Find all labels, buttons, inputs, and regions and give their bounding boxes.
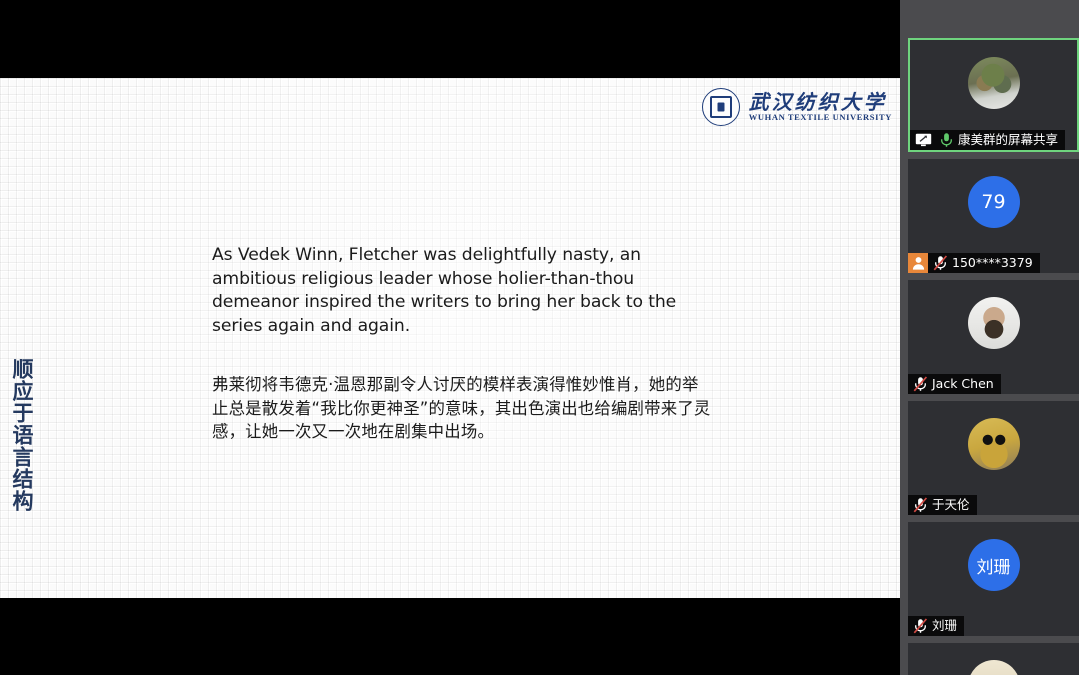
shared-screen-region: 顺应于语言结构 武汉纺织大学 WUHAN TEXTILE UNIVERSITY … — [0, 0, 900, 675]
participant-name-label: Jack Chen — [932, 378, 994, 391]
slide-paragraph-english: As Vedek Winn, Fletcher was delightfully… — [212, 244, 712, 338]
microphone-muted-icon — [910, 495, 930, 515]
participant-name-strip: 150****3379 — [908, 253, 1040, 273]
participant-tile-partial-bottom[interactable] — [908, 643, 1079, 675]
participant-tile-liu-shan[interactable]: 刘珊刘珊 — [908, 522, 1079, 636]
university-logo-text: 武汉纺织大学 WUHAN TEXTILE UNIVERSITY — [749, 92, 892, 123]
microphone-active-icon — [936, 130, 956, 150]
microphone-muted-icon — [910, 374, 930, 394]
participant-name-label: 刘珊 — [932, 620, 957, 633]
participant-tile-jack-chen[interactable]: Jack Chen — [908, 280, 1079, 394]
avatar — [968, 418, 1020, 470]
participant-name-label: 康美群的屏幕共享 — [958, 134, 1058, 147]
slide-side-title: 顺应于语言结构 — [8, 358, 32, 512]
participant-name-strip: Jack Chen — [908, 374, 1001, 394]
avatar: 刘珊 — [968, 539, 1020, 591]
presentation-slide: 顺应于语言结构 武汉纺织大学 WUHAN TEXTILE UNIVERSITY … — [0, 78, 900, 598]
participant-strip[interactable]: 康美群的屏幕共享79150****3379Jack Chen于天伦刘珊刘珊 — [900, 0, 1079, 675]
slide-paragraph-chinese: 弗莱彻将韦德克·温恩那副令人讨厌的模样表演得惟妙惟肖，她的举止总是散发着“我比你… — [212, 373, 712, 443]
participant-tile-screen-share[interactable]: 康美群的屏幕共享 — [908, 38, 1079, 152]
university-logo: 武汉纺织大学 WUHAN TEXTILE UNIVERSITY — [702, 88, 892, 126]
participant-name-strip: 于天伦 — [908, 495, 977, 515]
university-name-en: WUHAN TEXTILE UNIVERSITY — [749, 113, 892, 122]
avatar — [968, 297, 1020, 349]
participant-name-label: 150****3379 — [952, 257, 1033, 270]
participant-tile-yu-tianlun[interactable]: 于天伦 — [908, 401, 1079, 515]
microphone-muted-icon — [930, 253, 950, 273]
avatar — [968, 660, 1020, 675]
university-name-cn: 武汉纺织大学 — [749, 92, 892, 113]
participant-name-strip: 刘珊 — [908, 616, 964, 636]
avatar — [968, 57, 1020, 109]
microphone-muted-icon — [910, 616, 930, 636]
host-person-badge-icon — [908, 253, 928, 273]
participant-name-strip: 康美群的屏幕共享 — [910, 130, 1065, 150]
avatar: 79 — [968, 176, 1020, 228]
participant-name-label: 于天伦 — [932, 499, 970, 512]
participant-tile-phone-user[interactable]: 79150****3379 — [908, 159, 1079, 273]
slide-body-text: As Vedek Winn, Fletcher was delightfully… — [212, 244, 712, 443]
share-screen-icon — [912, 130, 934, 150]
university-seal-icon — [702, 88, 740, 126]
